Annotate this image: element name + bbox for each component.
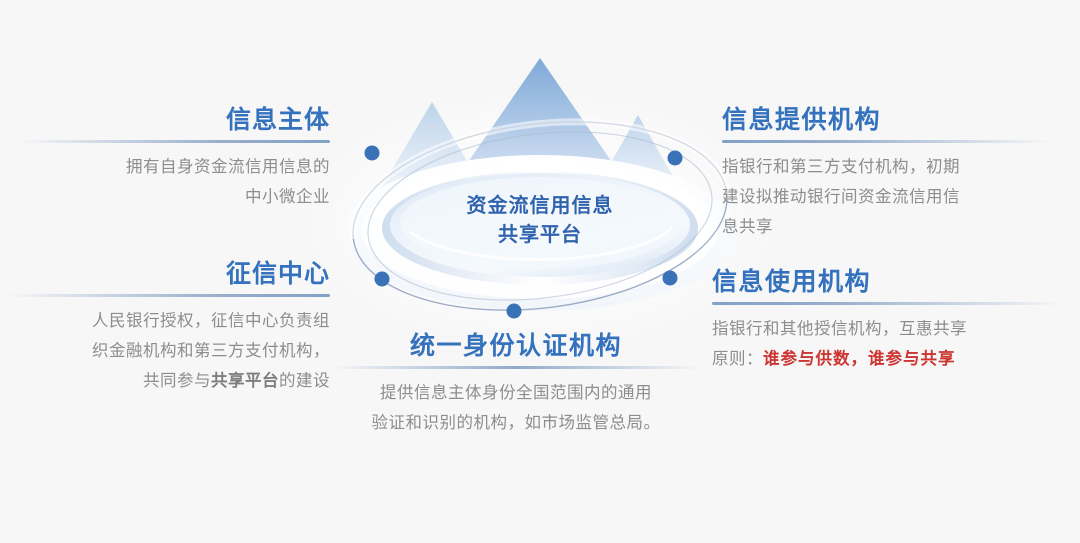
block-identity-auth-heading: 统一身份认证机构 [330, 330, 702, 362]
platform-title-line-2: 共享平台 [300, 221, 780, 250]
block-info-provider: 信息提供机构 指银行和第三方支付机构，初期建设拟推动银行间资金流信用信息共享 [722, 104, 1052, 242]
body-text: 中小微企业 [245, 187, 330, 206]
body-line: 人民银行授权，征信中心负责组 [6, 306, 330, 336]
highlighted-text: 谁参与供数，谁参与共享 [763, 349, 956, 368]
body-line: 拥有自身资金流信用信息的 [18, 152, 330, 182]
central-platform-graphic: 资金流信用信息 共享平台 [300, 20, 780, 350]
block-info-subject: 信息主体 拥有自身资金流信用信息的中小微企业 [18, 104, 330, 212]
body-text: 原则： [712, 349, 763, 368]
block-info-provider-heading: 信息提供机构 [722, 104, 1052, 136]
body-line: 息共享 [722, 212, 1052, 242]
heading-underline [330, 366, 702, 369]
block-info-user-heading: 信息使用机构 [712, 266, 1064, 298]
platform-title: 资金流信用信息 共享平台 [300, 192, 780, 250]
body-text: 共同参与 [143, 371, 211, 390]
body-text: 建设拟推动银行间资金流信用信 [722, 187, 960, 206]
body-text: 提供信息主体身份全国范围内的通用 [380, 383, 652, 402]
block-credit-center: 征信中心 人民银行授权，征信中心负责组织金融机构和第三方支付机构，共同参与共享平… [6, 258, 330, 396]
body-text: 息共享 [722, 217, 773, 236]
body-line: 验证和识别的机构，如市场监管总局。 [330, 408, 702, 438]
body-line: 织金融机构和第三方支付机构， [6, 336, 330, 366]
body-text: 织金融机构和第三方支付机构， [92, 341, 330, 360]
infographic-canvas: 资金流信用信息 共享平台 信息主体 拥有自身资金流信用信息的中小微企业 征信中心… [0, 0, 1080, 543]
orbit-node [507, 304, 522, 319]
block-info-provider-body: 指银行和第三方支付机构，初期建设拟推动银行间资金流信用信息共享 [722, 152, 1052, 242]
body-text: 拥有自身资金流信用信息的 [126, 157, 330, 176]
body-text: 验证和识别的机构，如市场监管总局。 [372, 413, 661, 432]
emphasized-text: 共享平台 [211, 371, 279, 390]
block-identity-auth-body: 提供信息主体身份全国范围内的通用验证和识别的机构，如市场监管总局。 [330, 378, 702, 438]
platform-title-line-1: 资金流信用信息 [300, 192, 780, 221]
block-credit-center-heading: 征信中心 [6, 258, 330, 290]
block-info-subject-heading: 信息主体 [18, 104, 330, 136]
body-line: 提供信息主体身份全国范围内的通用 [330, 378, 702, 408]
heading-underline [722, 140, 1052, 143]
body-line: 建设拟推动银行间资金流信用信 [722, 182, 1052, 212]
heading-underline [6, 294, 330, 297]
block-info-user: 信息使用机构 指银行和其他授信机构，互惠共享原则：谁参与供数，谁参与共享 [712, 266, 1064, 374]
body-line: 指银行和第三方支付机构，初期 [722, 152, 1052, 182]
heading-underline [18, 140, 330, 143]
block-identity-auth: 统一身份认证机构 提供信息主体身份全国范围内的通用验证和识别的机构，如市场监管总… [330, 330, 702, 438]
block-credit-center-body: 人民银行授权，征信中心负责组织金融机构和第三方支付机构，共同参与共享平台的建设 [6, 306, 330, 396]
body-line: 共同参与共享平台的建设 [6, 366, 330, 396]
block-info-subject-body: 拥有自身资金流信用信息的中小微企业 [18, 152, 330, 212]
block-info-user-body: 指银行和其他授信机构，互惠共享原则：谁参与供数，谁参与共享 [712, 314, 1064, 374]
body-text: 的建设 [279, 371, 330, 390]
body-line: 指银行和其他授信机构，互惠共享 [712, 314, 1064, 344]
orbit-node [668, 151, 683, 166]
orbit-node [663, 271, 678, 286]
body-text: 指银行和第三方支付机构，初期 [722, 157, 960, 176]
body-text: 人民银行授权，征信中心负责组 [92, 311, 330, 330]
orbit-node [365, 146, 380, 161]
body-line: 中小微企业 [18, 182, 330, 212]
orbit-node [375, 272, 390, 287]
body-line: 原则：谁参与供数，谁参与共享 [712, 344, 1064, 374]
heading-underline [712, 302, 1064, 305]
body-text: 指银行和其他授信机构，互惠共享 [712, 319, 967, 338]
